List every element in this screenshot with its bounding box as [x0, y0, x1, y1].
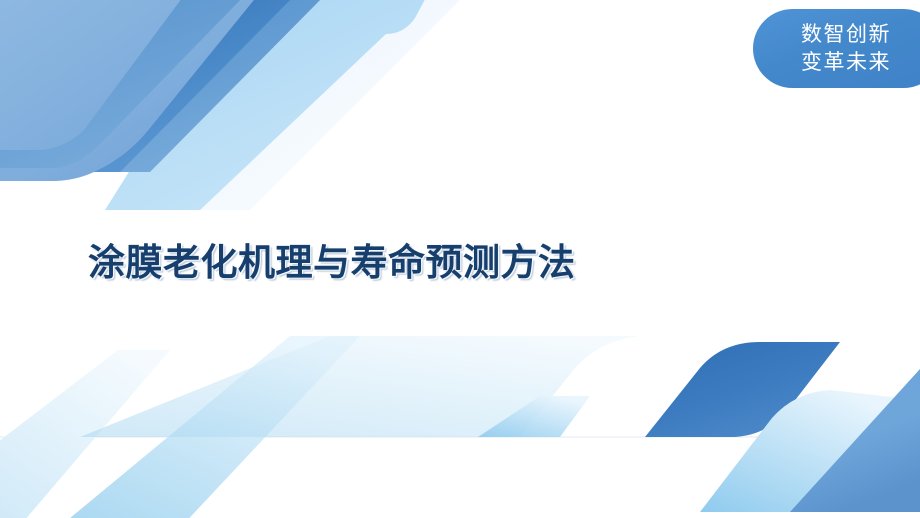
title-slide: 涂膜老化机理与寿命预测方法 数智创新 变革未来	[0, 0, 920, 518]
corner-badge-line-2: 变革未来	[801, 49, 891, 77]
corner-badge: 数智创新 变革未来	[753, 9, 920, 88]
corner-badge-line-1: 数智创新	[801, 21, 891, 49]
